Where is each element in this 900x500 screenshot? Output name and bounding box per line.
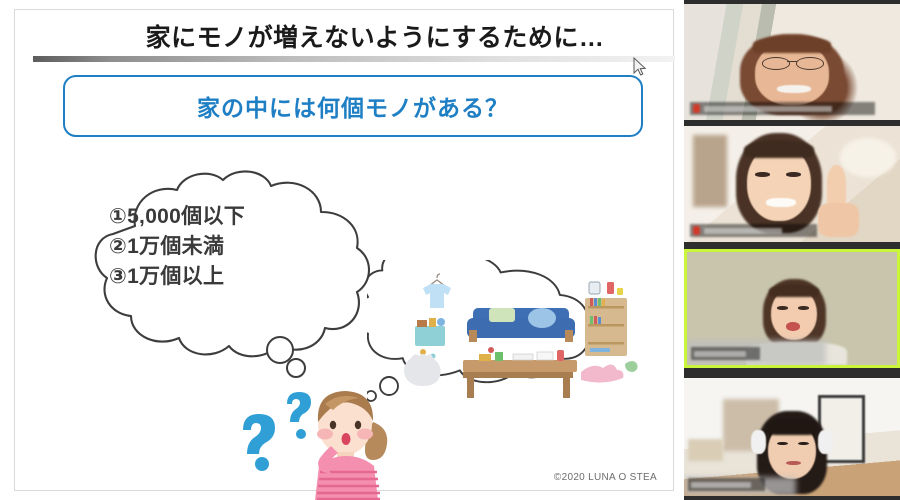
thought-bubble-options: ①5,000個以下 ②1万個未満 ③1万個以上 (73, 168, 383, 393)
option-item-3: ③1万個以上 (109, 262, 349, 292)
mic-muted-icon (693, 226, 700, 235)
shared-slide-area: 家にモノが増えないようにするために… 家の中には何個モノがある？ ①5,000個… (0, 0, 684, 500)
title-divider-rule (33, 56, 675, 62)
participant-name-3 (694, 351, 746, 357)
question-box-text: 家の中には何個モノがある？ (65, 77, 641, 135)
participant-tile-3[interactable] (684, 249, 900, 368)
participant-name-2 (704, 228, 782, 234)
bookshelf-icon (585, 282, 627, 356)
mouse-cursor (633, 57, 647, 77)
participant-tile-2[interactable] (684, 126, 900, 242)
participant-tile-4[interactable] (684, 378, 900, 496)
participant-name-1 (704, 106, 832, 112)
options-list: ①5,000個以下 ②1万個未満 ③1万個以上 (109, 202, 349, 292)
girl-svg (233, 382, 403, 500)
room-scene-svg (367, 260, 657, 410)
question-mark-icon-small (287, 392, 311, 439)
option-item-2: ②1万個未満 (109, 232, 349, 262)
cluttered-room-illustration (367, 260, 657, 410)
coffee-table-icon (463, 347, 577, 398)
option-item-1: ①5,000個以下 (109, 202, 349, 232)
slide-frame: 家にモノが増えないようにするために… 家の中には何個モノがある？ ①5,000個… (14, 9, 674, 491)
toy-box-icon (415, 318, 445, 359)
slide-title: 家にモノが増えないようにするために… (105, 22, 645, 54)
participant-name-bar-3 (691, 347, 760, 360)
trash-bag-icon (404, 354, 441, 386)
mic-muted-icon (693, 104, 700, 113)
hanging-shirt-icon (423, 274, 451, 308)
participant-tile-1[interactable] (684, 4, 900, 120)
question-box: 家の中には何個モノがある？ (63, 75, 643, 137)
participant-name-bar-2 (690, 224, 817, 237)
question-mark-icon (243, 414, 275, 471)
sofa-icon (467, 308, 575, 342)
participant-name-bar-1 (690, 102, 875, 115)
girl-thinking-character (233, 382, 403, 500)
participant-name-bar-4 (688, 478, 765, 491)
copyright-text: ©2020 LUNA O STEA (554, 472, 657, 483)
video-participants-panel[interactable] (684, 0, 900, 500)
participant-name-4 (691, 482, 751, 488)
screen-share-meeting-view: 家にモノが増えないようにするために… 家の中には何個モノがある？ ①5,000個… (0, 0, 900, 500)
